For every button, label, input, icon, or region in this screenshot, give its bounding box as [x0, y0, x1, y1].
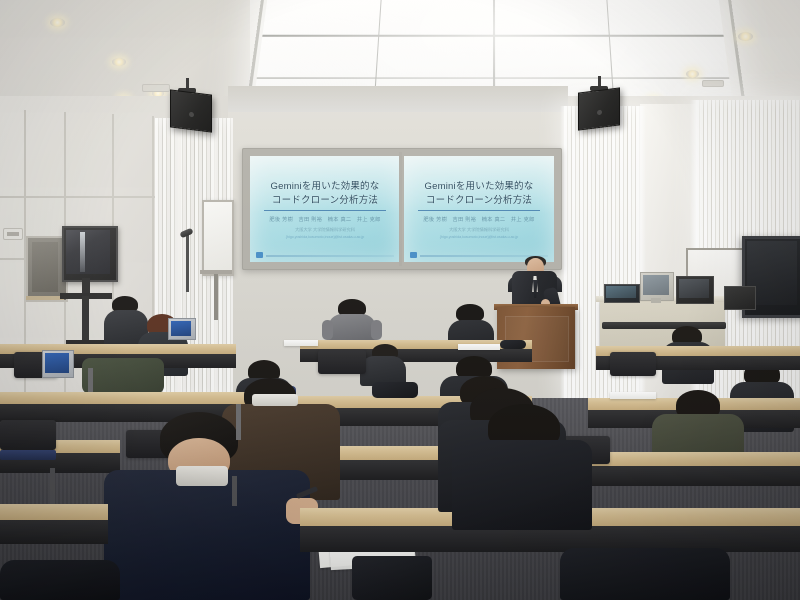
front-wall-shadow-band	[228, 86, 568, 112]
ceiling-speaker-left	[170, 89, 212, 132]
wall-recess-shelf	[26, 296, 64, 300]
ceiling-speaker-right	[578, 87, 620, 130]
desk-front-panel	[580, 466, 800, 486]
desk-surface	[0, 392, 270, 404]
slide-contact: {higo,yoshida,kusumoto,inoue}@ist.osaka-…	[250, 235, 400, 239]
desk-surface	[0, 504, 108, 520]
projected-slide-left: Geminiを用いた効果的な コードクローン分析方法 肥後 芳樹 吉田 則裕 楠…	[250, 156, 400, 262]
console-equipment-rail	[602, 322, 726, 329]
whiteboard-leg	[214, 274, 218, 320]
monitor-stand-pole	[82, 296, 89, 344]
paper-sheet	[458, 344, 500, 350]
screen-center-divider	[399, 152, 402, 266]
list-item	[0, 560, 120, 600]
slide-affiliation: 大阪大学 大学院情報科学研究科	[404, 227, 554, 233]
lecture-hall-photo: Geminiを用いた効果的な コードクローン分析方法 肥後 芳樹 吉田 則裕 楠…	[0, 0, 800, 600]
crt-monitor-screen	[643, 275, 669, 295]
chair-frame	[232, 476, 237, 506]
downlight-icon	[738, 32, 753, 41]
slide-authors: 肥後 芳樹 吉田 則裕 楠本 真二 井上 克郎	[404, 216, 554, 223]
slide-title-line1: Geminiを用いた効果的な	[250, 178, 400, 192]
downlight-icon	[50, 18, 65, 27]
attendee-collar	[176, 466, 228, 486]
wall-recess-interior	[32, 242, 58, 292]
attendee-arm	[322, 320, 333, 340]
downlight-icon	[112, 58, 126, 66]
laptop-screen	[45, 353, 69, 373]
desk-surface	[580, 452, 800, 466]
slide-logo-icon	[256, 252, 263, 258]
monitor-on-stand-screen	[66, 230, 110, 274]
downlight-icon	[686, 70, 699, 78]
bag	[500, 340, 526, 349]
whiteboard-left	[202, 200, 234, 276]
slide-contact: {higo,yoshida,kusumoto,inoue}@ist.osaka-…	[404, 235, 554, 239]
slide-divider-rule	[418, 210, 540, 211]
slide-authors: 肥後 芳樹 吉田 則裕 楠本 真二 井上 克郎	[250, 216, 400, 223]
projection-screen-assembly: Geminiを用いた効果的な コードクローン分析方法 肥後 芳樹 吉田 則裕 楠…	[242, 148, 562, 270]
slide-divider-rule	[264, 210, 386, 211]
attendee-arm	[371, 320, 382, 340]
bag	[352, 556, 432, 600]
laptop-screen	[171, 321, 191, 336]
attendee-collar	[252, 394, 298, 406]
desk-leg	[236, 404, 241, 440]
chair-back	[318, 350, 366, 374]
slide-affiliation: 大阪大学 大学院情報科学研究科	[250, 227, 400, 233]
slide-title-line1: Geminiを用いた効果的な	[404, 178, 554, 192]
chair-frame	[50, 468, 55, 504]
aux-monitor-screen	[606, 286, 636, 298]
chair-back	[610, 352, 656, 376]
projected-slide-right: Geminiを用いた効果的な コードクローン分析方法 肥後 芳樹 吉田 則裕 楠…	[404, 156, 554, 262]
chair-back	[0, 420, 56, 450]
slide-title-line2: コードクローン分析方法	[250, 192, 400, 206]
crt-monitor-stand	[651, 298, 661, 303]
bag	[372, 382, 418, 398]
slide-title-line2: コードクローン分析方法	[404, 192, 554, 206]
paper-sheet	[284, 340, 318, 346]
slide-logo-icon	[410, 252, 417, 258]
list-item	[560, 548, 730, 600]
lcd-monitor-screen	[679, 279, 709, 298]
chair-seat	[0, 450, 56, 460]
desk-front-panel	[0, 520, 108, 544]
list-item	[104, 470, 310, 600]
far-right-monitor	[724, 286, 756, 310]
microphone-stand	[186, 234, 189, 292]
coat-on-chair	[82, 358, 164, 394]
slide-footer-rule	[266, 255, 394, 257]
wall-switch-plate[interactable]	[3, 228, 23, 240]
ceiling-vent	[142, 84, 170, 92]
paper-sheet	[610, 392, 656, 399]
ceiling-vent	[702, 80, 724, 87]
list-item	[452, 440, 592, 530]
desk-leg	[88, 368, 93, 392]
